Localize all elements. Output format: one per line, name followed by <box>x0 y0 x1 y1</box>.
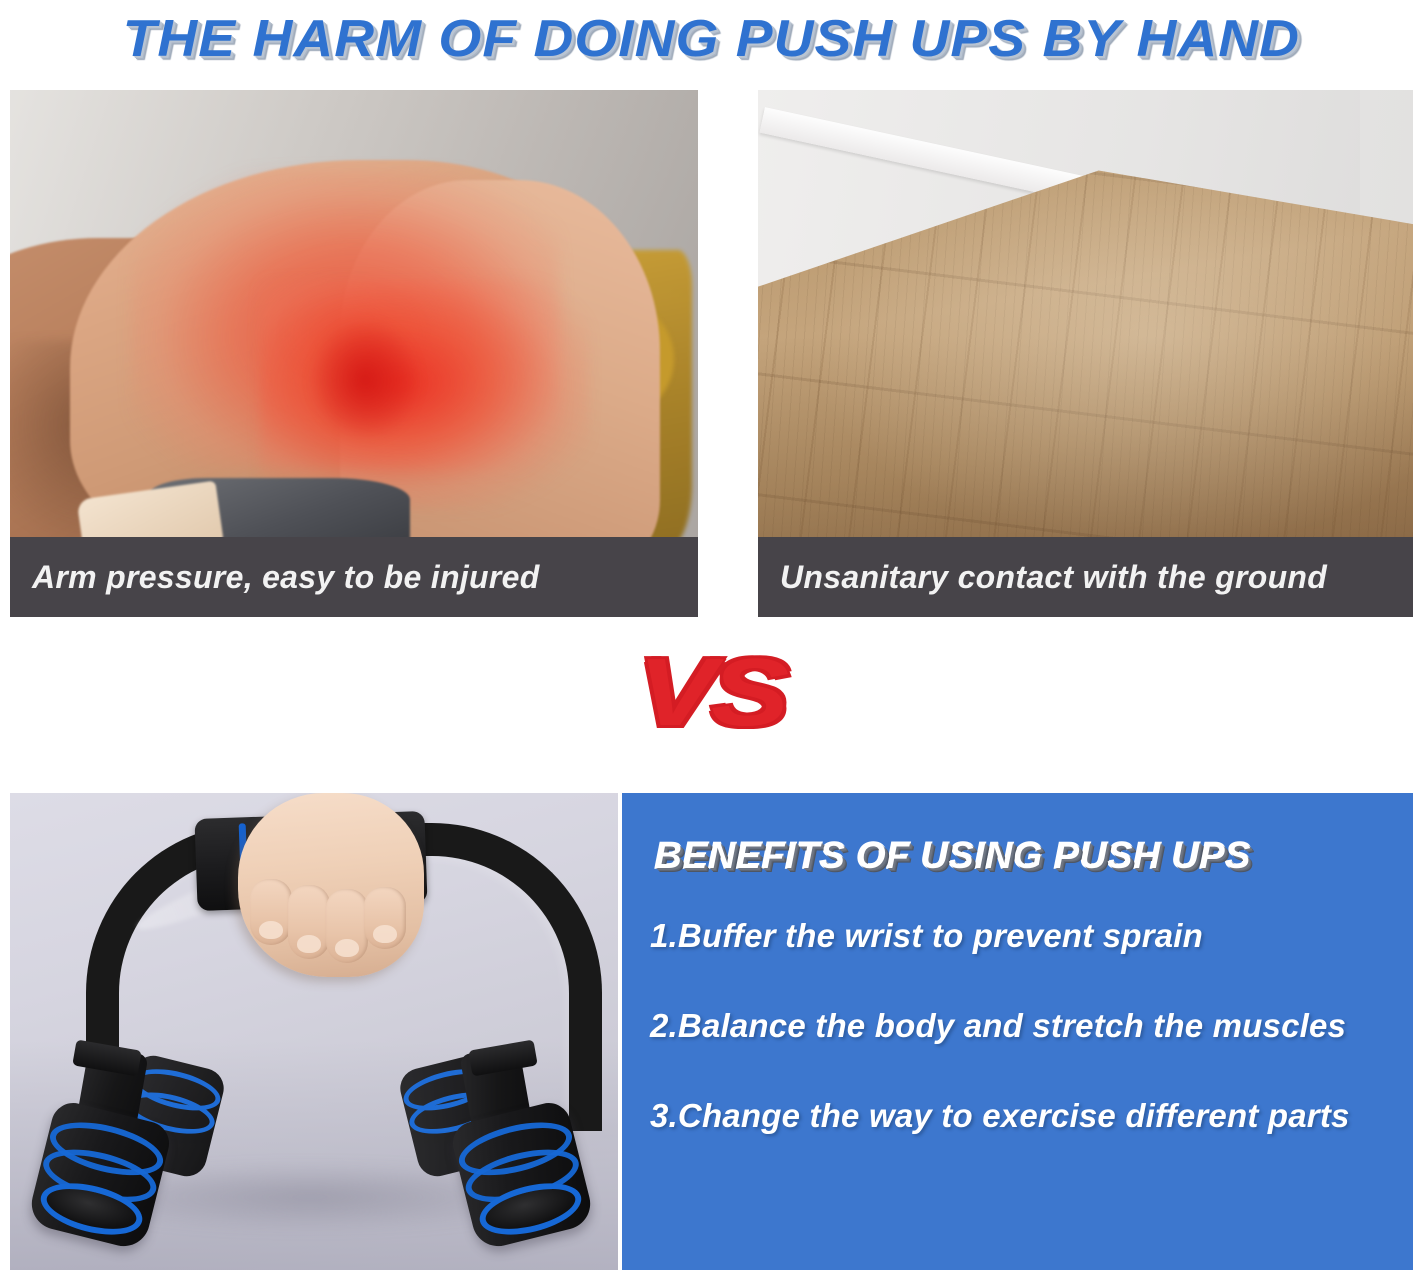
fingernail <box>297 935 321 953</box>
wooden-floor-room-photo <box>758 90 1413 537</box>
versus-label: VS <box>638 645 784 741</box>
product-benefits-row: BENEFITS OF USING PUSH UPS 1.Buffer the … <box>10 793 1413 1270</box>
fingernail <box>373 925 397 943</box>
benefit-item: 2.Balance the body and stretch the muscl… <box>650 1007 1395 1045</box>
benefits-panel: BENEFITS OF USING PUSH UPS 1.Buffer the … <box>622 793 1413 1270</box>
finger <box>326 889 368 963</box>
harm-cards-row: Arm pressure, easy to be injured Unsanit… <box>10 90 1413 617</box>
page-title: THE HARM OF DOING PUSH UPS BY HAND <box>123 9 1300 69</box>
fingernail <box>335 939 359 957</box>
pain-highlight-crease <box>310 320 420 440</box>
arm-muscle-pain-photo <box>10 90 698 537</box>
title-banner: THE HARM OF DOING PUSH UPS BY HAND <box>0 0 1423 78</box>
push-up-bar-product-photo <box>10 793 618 1270</box>
fingernail <box>259 921 283 939</box>
finger <box>250 879 292 945</box>
benefits-heading: BENEFITS OF USING PUSH UPS <box>655 835 1403 877</box>
harm-caption-text: Arm pressure, easy to be injured <box>32 559 540 596</box>
harm-caption-bar: Arm pressure, easy to be injured <box>10 537 698 617</box>
finger <box>288 885 330 959</box>
benefit-item: 3.Change the way to exercise different p… <box>650 1097 1395 1135</box>
benefit-item: 1.Buffer the wrist to prevent sprain <box>650 917 1395 955</box>
finger <box>364 887 406 949</box>
versus-divider: VS <box>0 628 1423 758</box>
harm-caption-text: Unsanitary contact with the ground <box>780 559 1327 596</box>
harm-caption-bar: Unsanitary contact with the ground <box>758 537 1413 617</box>
harm-card-arm-pressure: Arm pressure, easy to be injured <box>10 90 698 617</box>
hand-gripping-bar <box>238 793 424 977</box>
harm-card-unsanitary-floor: Unsanitary contact with the ground <box>758 90 1413 617</box>
